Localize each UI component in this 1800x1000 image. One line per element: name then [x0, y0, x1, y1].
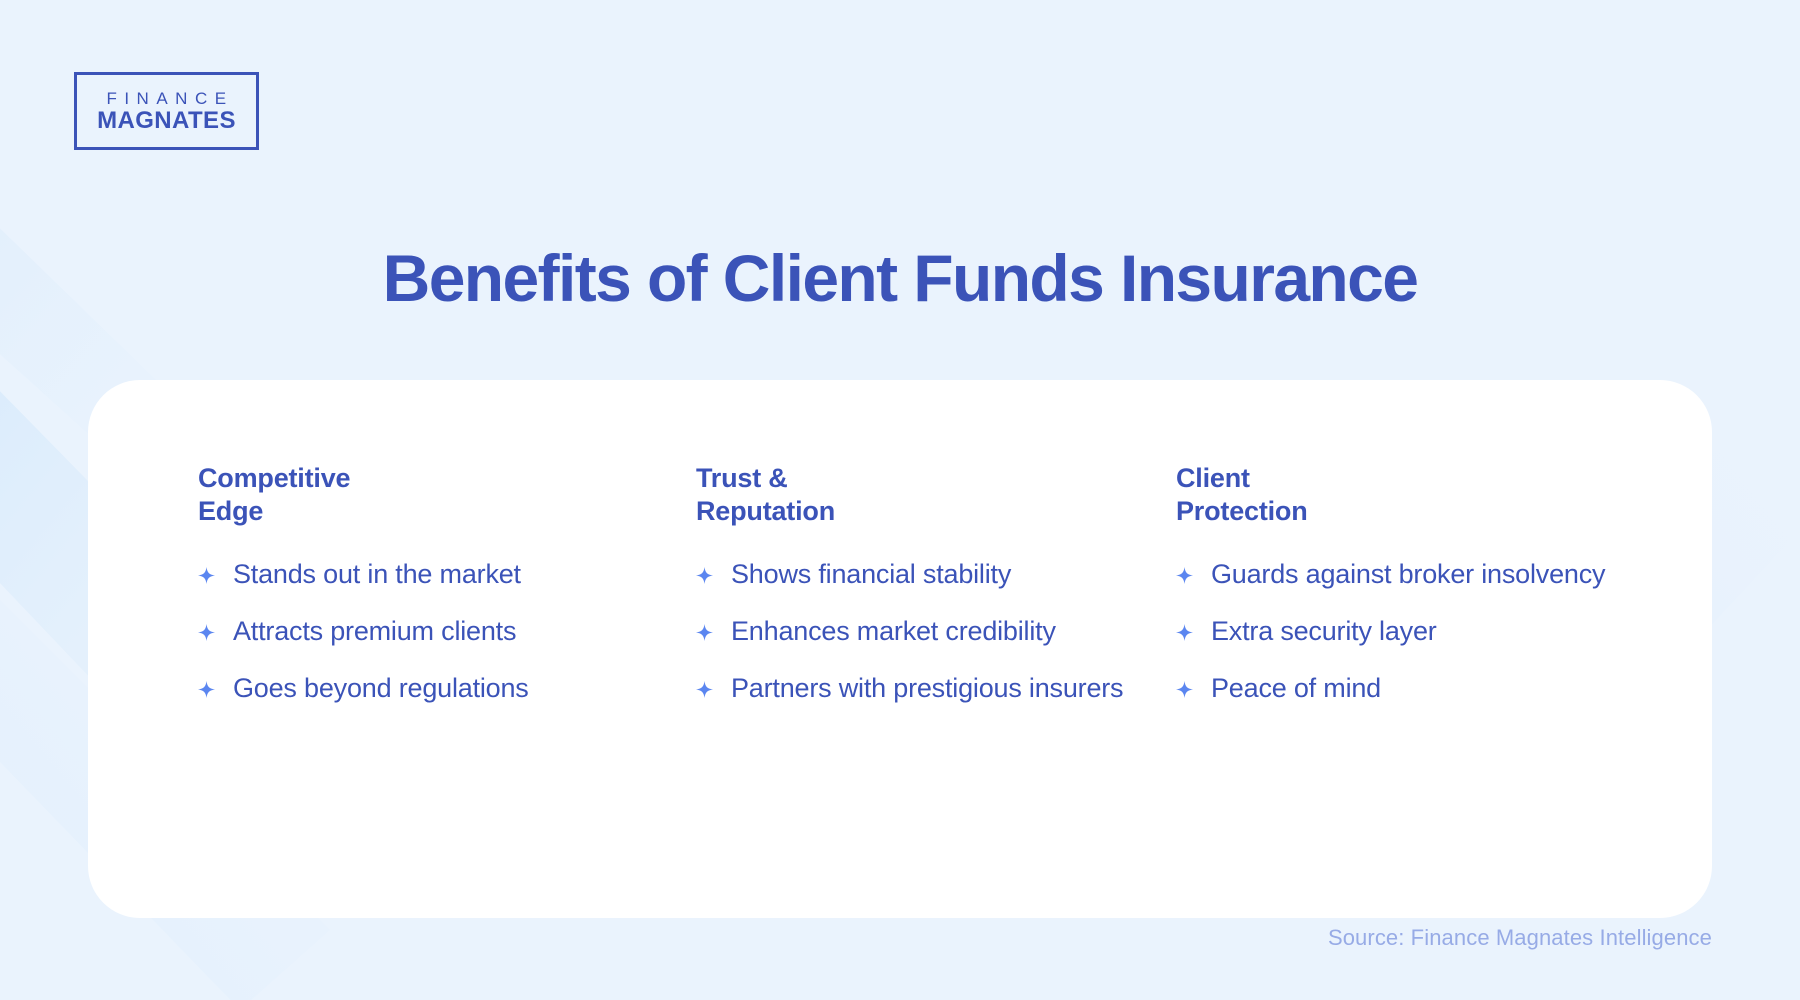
benefit-list: Stands out in the market Attracts premiu… — [198, 558, 678, 705]
column-heading: Trust & Reputation — [696, 462, 1158, 528]
list-item-label: Guards against broker insolvency — [1211, 558, 1605, 591]
list-item-label: Goes beyond regulations — [233, 672, 529, 705]
sparkle-icon — [1176, 681, 1193, 698]
benefit-list: Guards against broker insolvency Extra s… — [1176, 558, 1638, 705]
benefits-card: Competitive Edge Stands out in the marke… — [88, 380, 1712, 918]
list-item-label: Peace of mind — [1211, 672, 1381, 705]
logo-word-magnates: MAGNATES — [97, 109, 236, 133]
list-item-label: Partners with prestigious insurers — [731, 672, 1123, 705]
list-item: Enhances market credibility — [696, 615, 1158, 648]
list-item: Extra security layer — [1176, 615, 1638, 648]
list-item: Stands out in the market — [198, 558, 678, 591]
list-item-label: Extra security layer — [1211, 615, 1437, 648]
page-title: Benefits of Client Funds Insurance — [0, 244, 1800, 313]
sparkle-icon — [696, 681, 713, 698]
sparkle-icon — [696, 567, 713, 584]
list-item: Attracts premium clients — [198, 615, 678, 648]
list-item: Shows financial stability — [696, 558, 1158, 591]
list-item: Peace of mind — [1176, 672, 1638, 705]
finance-magnates-logo: FINANCE MAGNATES — [74, 72, 259, 150]
list-item-label: Shows financial stability — [731, 558, 1011, 591]
benefit-columns: Competitive Edge Stands out in the marke… — [198, 462, 1648, 705]
column-heading: Competitive Edge — [198, 462, 678, 528]
list-item: Goes beyond regulations — [198, 672, 678, 705]
sparkle-icon — [696, 624, 713, 641]
column-heading: Client Protection — [1176, 462, 1638, 528]
sparkle-icon — [1176, 567, 1193, 584]
benefit-column-trust-reputation: Trust & Reputation Shows financial stabi… — [678, 462, 1158, 705]
list-item: Guards against broker insolvency — [1176, 558, 1638, 591]
sparkle-icon — [198, 624, 215, 641]
list-item-label: Stands out in the market — [233, 558, 521, 591]
benefit-column-competitive-edge: Competitive Edge Stands out in the marke… — [198, 462, 678, 705]
logo-word-finance: FINANCE — [99, 90, 233, 107]
list-item-label: Attracts premium clients — [233, 615, 516, 648]
benefit-list: Shows financial stability Enhances marke… — [696, 558, 1158, 705]
sparkle-icon — [198, 567, 215, 584]
source-attribution: Source: Finance Magnates Intelligence — [1328, 925, 1712, 951]
list-item: Partners with prestigious insurers — [696, 672, 1158, 705]
sparkle-icon — [1176, 624, 1193, 641]
sparkle-icon — [198, 681, 215, 698]
benefit-column-client-protection: Client Protection Guards against broker … — [1158, 462, 1638, 705]
list-item-label: Enhances market credibility — [731, 615, 1056, 648]
